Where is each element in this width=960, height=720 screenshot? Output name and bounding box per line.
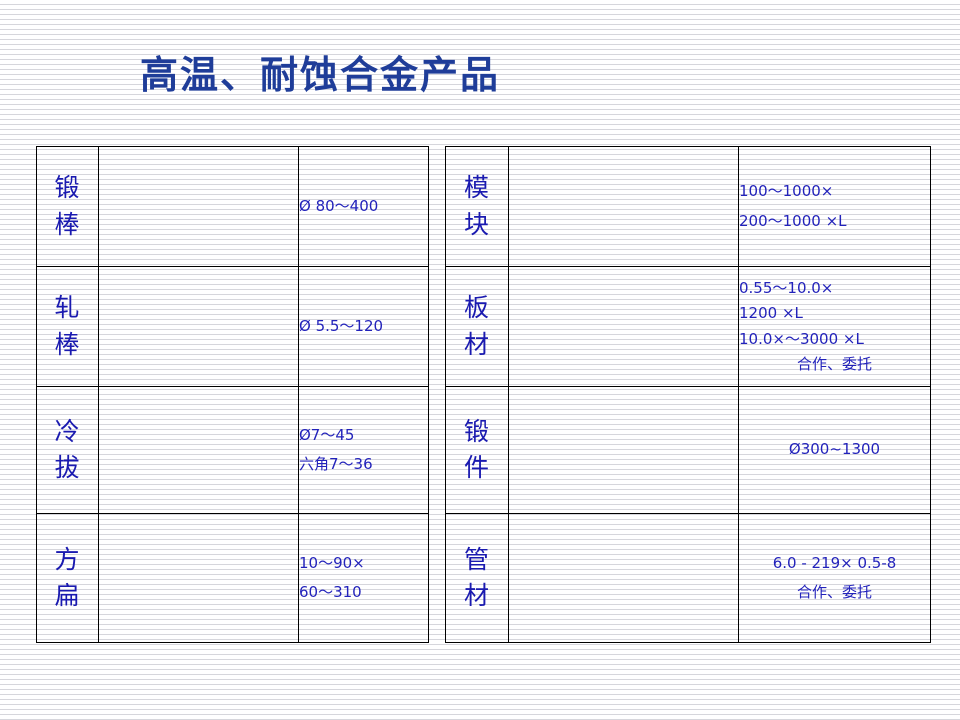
spec-line: Ø 5.5～120: [299, 312, 428, 341]
spec-cell-rolled-bar: Ø 5.5～120: [299, 267, 429, 387]
spec-cell-flat-bar: 10～90× 60～310: [299, 514, 429, 643]
product-label-plate: 板 材: [446, 267, 509, 387]
label-char: 管: [446, 542, 508, 578]
table-row: 锻 棒 Ø 80～400: [37, 147, 429, 267]
forging-ring-photo-cell: [509, 387, 739, 514]
spec-line-note: 合作、委托: [743, 578, 926, 607]
product-label-flat-bar: 方 扁: [37, 514, 99, 643]
label-char: 轧: [37, 290, 98, 326]
table-row: 锻 件 Ø300~1300: [446, 387, 931, 514]
spec-cell-forging: Ø300~1300: [739, 387, 931, 514]
spec-cell-mould-block: 100～1000× 200～1000 ×L: [739, 147, 931, 267]
label-char: 扁: [37, 578, 98, 614]
label-char: 锻: [37, 170, 98, 206]
product-label-forging: 锻 件: [446, 387, 509, 514]
table-row: 管 材 6.0 - 219×: [446, 514, 931, 643]
page-title: 高温、耐蚀合金产品: [140, 55, 500, 97]
label-char: 板: [446, 290, 508, 326]
table-row: 模 块: [446, 147, 931, 267]
product-label-rolled-bar: 轧 棒: [37, 267, 99, 387]
steel-plates-photo-cell: [509, 267, 739, 387]
spec-line: Ø300~1300: [743, 435, 926, 464]
mould-blocks-photo-cell: [509, 147, 739, 267]
spec-line: Ø 80～400: [299, 192, 428, 221]
product-table-right: 模 块: [445, 146, 931, 643]
label-char: 件: [446, 450, 508, 486]
product-label-mould-block: 模 块: [446, 147, 509, 267]
table-row: 冷 拔 Ø7～45 六角7～36: [37, 387, 429, 514]
table-row: 方 扁 10～90×: [37, 514, 429, 643]
label-char: 材: [446, 327, 508, 363]
flat-bars-photo-cell: [99, 514, 299, 643]
label-char: 锻: [446, 414, 508, 450]
table-row: 板 材 0.55～10.0× 1200 ×L 10.0×～3000 ×L 合作、…: [446, 267, 931, 387]
label-char: 块: [446, 207, 508, 243]
label-char: 冷: [37, 414, 98, 450]
spec-line: 6.0 - 219× 0.5-8: [743, 549, 926, 578]
spec-line: 0.55～10.0×: [739, 276, 930, 302]
label-char: 模: [446, 170, 508, 206]
label-char: 材: [446, 578, 508, 614]
tubes-photo-cell: [509, 514, 739, 643]
spec-cell-plate: 0.55～10.0× 1200 ×L 10.0×～3000 ×L 合作、委托: [739, 267, 931, 387]
forged-bars-photo-cell: [99, 147, 299, 267]
spec-line: 10～90×: [299, 549, 428, 578]
spec-cell-tube: 6.0 - 219× 0.5-8 合作、委托: [739, 514, 931, 643]
spec-line: 200～1000 ×L: [739, 207, 930, 236]
table-row: 轧 棒 Ø 5.5～120: [37, 267, 429, 387]
spec-cell-cold-drawn: Ø7～45 六角7～36: [299, 387, 429, 514]
label-char: 棒: [37, 207, 98, 243]
spec-line: 10.0×～3000 ×L: [739, 327, 930, 353]
spec-line-note: 合作、委托: [739, 352, 930, 378]
product-label-tube: 管 材: [446, 514, 509, 643]
spec-line: 60～310: [299, 578, 428, 607]
spec-line: 100～1000×: [739, 177, 930, 206]
spec-line: Ø7～45: [299, 421, 428, 450]
label-char: 棒: [37, 327, 98, 363]
spec-line: 六角7～36: [299, 450, 428, 479]
rolled-bars-photo-cell: [99, 267, 299, 387]
label-char: 方: [37, 542, 98, 578]
spec-line: 1200 ×L: [739, 301, 930, 327]
product-table-left: 锻 棒 Ø 80～400 轧 棒 Ø 5.5～120 冷: [36, 146, 429, 643]
cold-drawn-bars-photo-cell: [99, 387, 299, 514]
label-char: 拔: [37, 450, 98, 486]
spec-cell-forged-bar: Ø 80～400: [299, 147, 429, 267]
product-label-cold-drawn: 冷 拔: [37, 387, 99, 514]
product-label-forged-bar: 锻 棒: [37, 147, 99, 267]
